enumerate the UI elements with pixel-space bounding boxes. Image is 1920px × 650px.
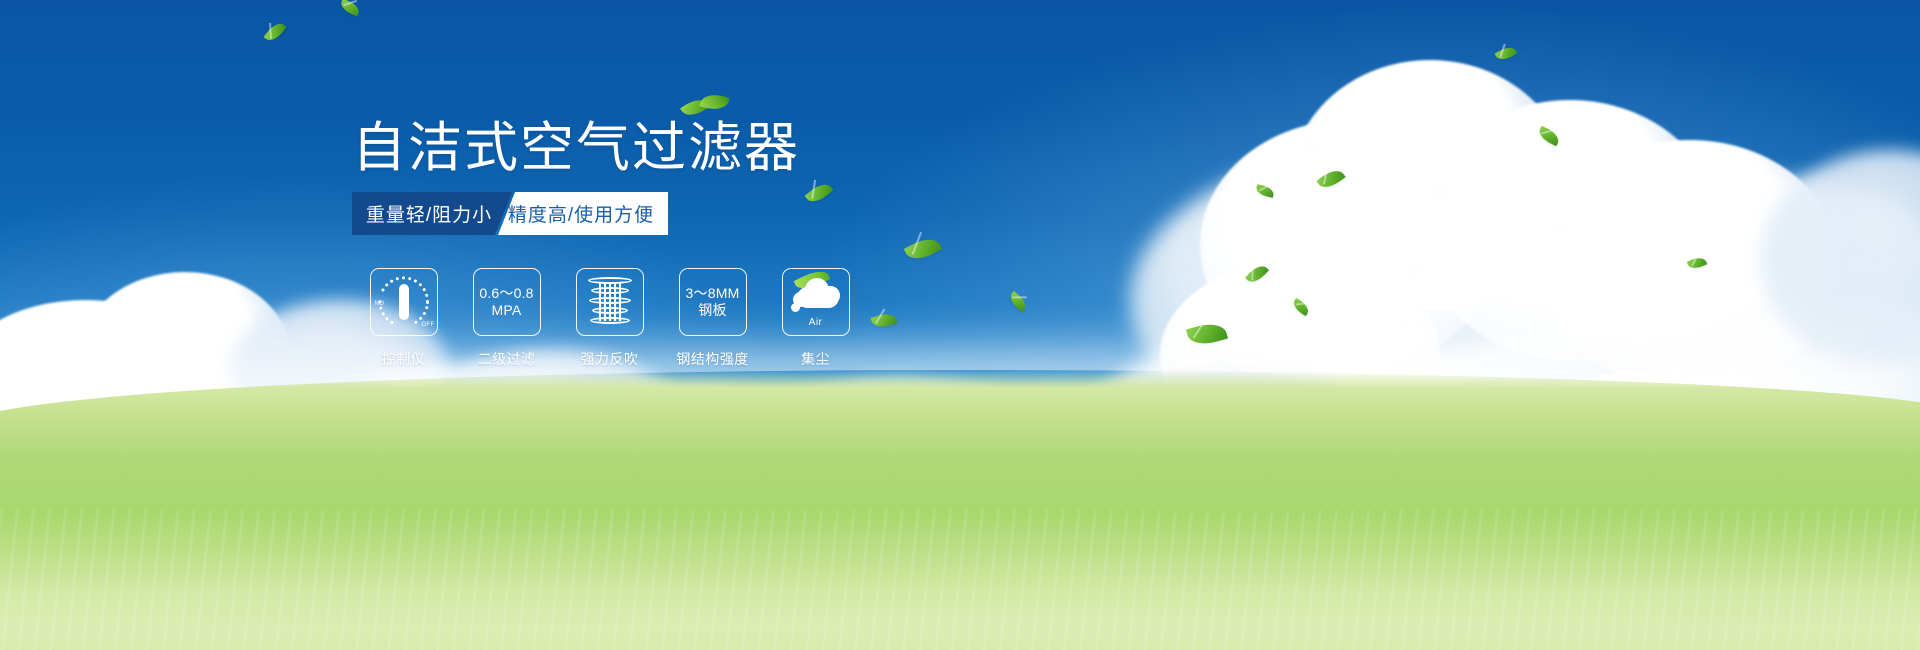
feature-label: 二级过滤 — [478, 349, 536, 369]
feature-tabs: 重量轻/阻力小 精度高/使用方便 — [352, 192, 668, 235]
feature-label: 强力反吹 — [581, 349, 639, 369]
product-hero-banner: 自洁式空气过滤器 重量轻/阻力小 精度高/使用方便 — [0, 0, 1920, 650]
tab-label: 重量轻/阻力小 — [366, 200, 492, 227]
feature-label: 集尘 — [801, 349, 830, 369]
feature-item-dust-collection[interactable]: Air 集尘 — [764, 268, 867, 369]
pressure-value-line1: 0.6～0.8 — [479, 285, 533, 302]
feature-label: 钢结构强度 — [676, 349, 749, 369]
air-cloud-icon: Air — [782, 268, 850, 336]
feature-item-powerful-backblow[interactable]: 强力反吹 — [558, 268, 661, 369]
backblow-spiral-icon — [576, 268, 644, 336]
feature-icon-list: NO OFF 控制仪 0.6～0.8 MPA 二级过滤 — [352, 268, 867, 369]
pressure-text-icon: 0.6～0.8 MPA — [473, 268, 541, 336]
control-dial-icon: NO OFF — [370, 268, 438, 336]
banner-content: 自洁式空气过滤器 重量轻/阻力小 精度高/使用方便 — [0, 0, 1920, 650]
leaf-sprig-icon — [680, 92, 730, 126]
tab-lightweight-low-resistance[interactable]: 重量轻/阻力小 — [352, 192, 512, 235]
feature-item-two-stage-filter[interactable]: 0.6～0.8 MPA 二级过滤 — [455, 268, 558, 369]
feature-item-steel-strength[interactable]: 3～8MM 钢板 钢结构强度 — [661, 268, 764, 369]
feature-item-controller[interactable]: NO OFF 控制仪 — [352, 268, 455, 369]
steel-value-line2: 钢板 — [698, 302, 726, 319]
steel-plate-text-icon: 3～8MM 钢板 — [679, 268, 747, 336]
air-label: Air — [809, 317, 822, 328]
page-title: 自洁式空气过滤器 — [352, 118, 800, 178]
dial-label-no: NO — [375, 301, 385, 307]
steel-value-line1: 3～8MM — [686, 285, 740, 302]
tab-label: 精度高/使用方便 — [508, 200, 654, 227]
dial-label-off: OFF — [422, 322, 435, 328]
tab-high-precision-easy-use[interactable]: 精度高/使用方便 — [498, 192, 668, 235]
pressure-value-line2: MPA — [492, 302, 522, 319]
feature-label: 控制仪 — [382, 349, 426, 369]
